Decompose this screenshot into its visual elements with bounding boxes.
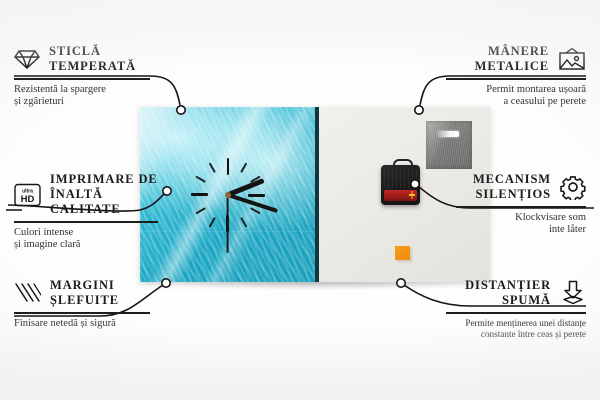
battery (384, 190, 417, 201)
callout-rule (446, 312, 586, 314)
hanger-slot (438, 131, 459, 137)
clock-minute-hand (227, 193, 278, 213)
callout-head: MARGINI ȘLEFUITE (14, 278, 154, 308)
picture-frame-icon (558, 47, 586, 71)
callout-head: MÂNERE METALICE (446, 44, 586, 74)
callout-rule (14, 221, 158, 223)
callout-title: MECANISM SILENȚIOS (473, 172, 551, 202)
callout-subtitle: Culori intense și imagine clară (14, 227, 160, 252)
foam-spacer (395, 246, 410, 260)
callout-subtitle: Finisare netedă și sigură (14, 318, 154, 331)
callout-metal-handles[interactable]: MÂNERE METALICE Permit montarea ușoară a… (446, 44, 586, 109)
callout-title: MARGINI ȘLEFUITE (50, 278, 119, 308)
callout-subtitle: Permite menținerea unei distanțe constan… (446, 318, 586, 340)
clock-second-hand (227, 195, 229, 253)
gear-icon (560, 174, 586, 200)
diamond-icon (14, 48, 40, 70)
callout-head: ultra HD IMPRIMARE DE ÎNALTĂ CALITATE (14, 172, 160, 217)
callout-head: MECANISM SILENȚIOS (456, 172, 586, 202)
callout-title: IMPRIMARE DE ÎNALTĂ CALITATE (50, 172, 160, 217)
callout-subtitle: Klockvisare som inte låter (456, 212, 586, 237)
product-image (140, 107, 490, 282)
callout-tempered-glass[interactable]: STICLĂ TEMPERATĂ Rezistentă la spargere … (14, 44, 154, 109)
movement-texture (384, 170, 417, 188)
callout-leader-lines (0, 0, 600, 400)
callout-polished-edges[interactable]: MARGINI ȘLEFUITE Finisare netedă și sigu… (14, 278, 154, 330)
glass-reflection-grid (140, 107, 315, 282)
callout-rule (446, 78, 586, 80)
infographic-stage: STICLĂ TEMPERATĂ Rezistentă la spargere … (0, 0, 600, 400)
product-shadow (148, 281, 492, 293)
polished-edges-icon (14, 282, 41, 304)
callout-subtitle: Permit montarea ușoară a ceasului pe per… (446, 84, 586, 109)
callout-high-quality-print[interactable]: ultra HD IMPRIMARE DE ÎNALTĂ CALITATE Cu… (14, 172, 160, 252)
clock-center-pin (225, 192, 231, 198)
clock-movement (381, 165, 420, 205)
callout-head: DISTANȚIER SPUMĂ (446, 278, 586, 308)
callout-subtitle: Rezistentă la spargere și zgârieturi (14, 84, 154, 109)
svg-text:HD: HD (21, 194, 35, 205)
clock-hour-hand (227, 178, 265, 197)
clock-dial (140, 107, 315, 282)
svg-text:ultra: ultra (22, 188, 33, 194)
metal-hanger-plate (426, 121, 472, 169)
callout-title: STICLĂ TEMPERATĂ (49, 44, 136, 74)
glass-sheen (140, 107, 315, 282)
callout-rule (14, 312, 150, 314)
callout-rule (456, 206, 586, 208)
callout-head: STICLĂ TEMPERATĂ (14, 44, 154, 74)
callout-rule (14, 78, 150, 80)
glass-panel (140, 107, 319, 282)
callout-title: DISTANȚIER SPUMĂ (465, 278, 551, 308)
back-panel (319, 107, 490, 282)
ultra-hd-badge-icon: ultra HD (14, 183, 41, 207)
movement-hanger-loop (393, 159, 413, 171)
callout-foam-spacer[interactable]: DISTANȚIER SPUMĂ Permite menținerea unei… (446, 278, 586, 340)
callout-silent-mechanism[interactable]: MECANISM SILENȚIOS Klockvisare som inte … (456, 172, 586, 237)
arrow-down-layer-icon (560, 280, 586, 306)
callout-title: MÂNERE METALICE (475, 44, 549, 74)
